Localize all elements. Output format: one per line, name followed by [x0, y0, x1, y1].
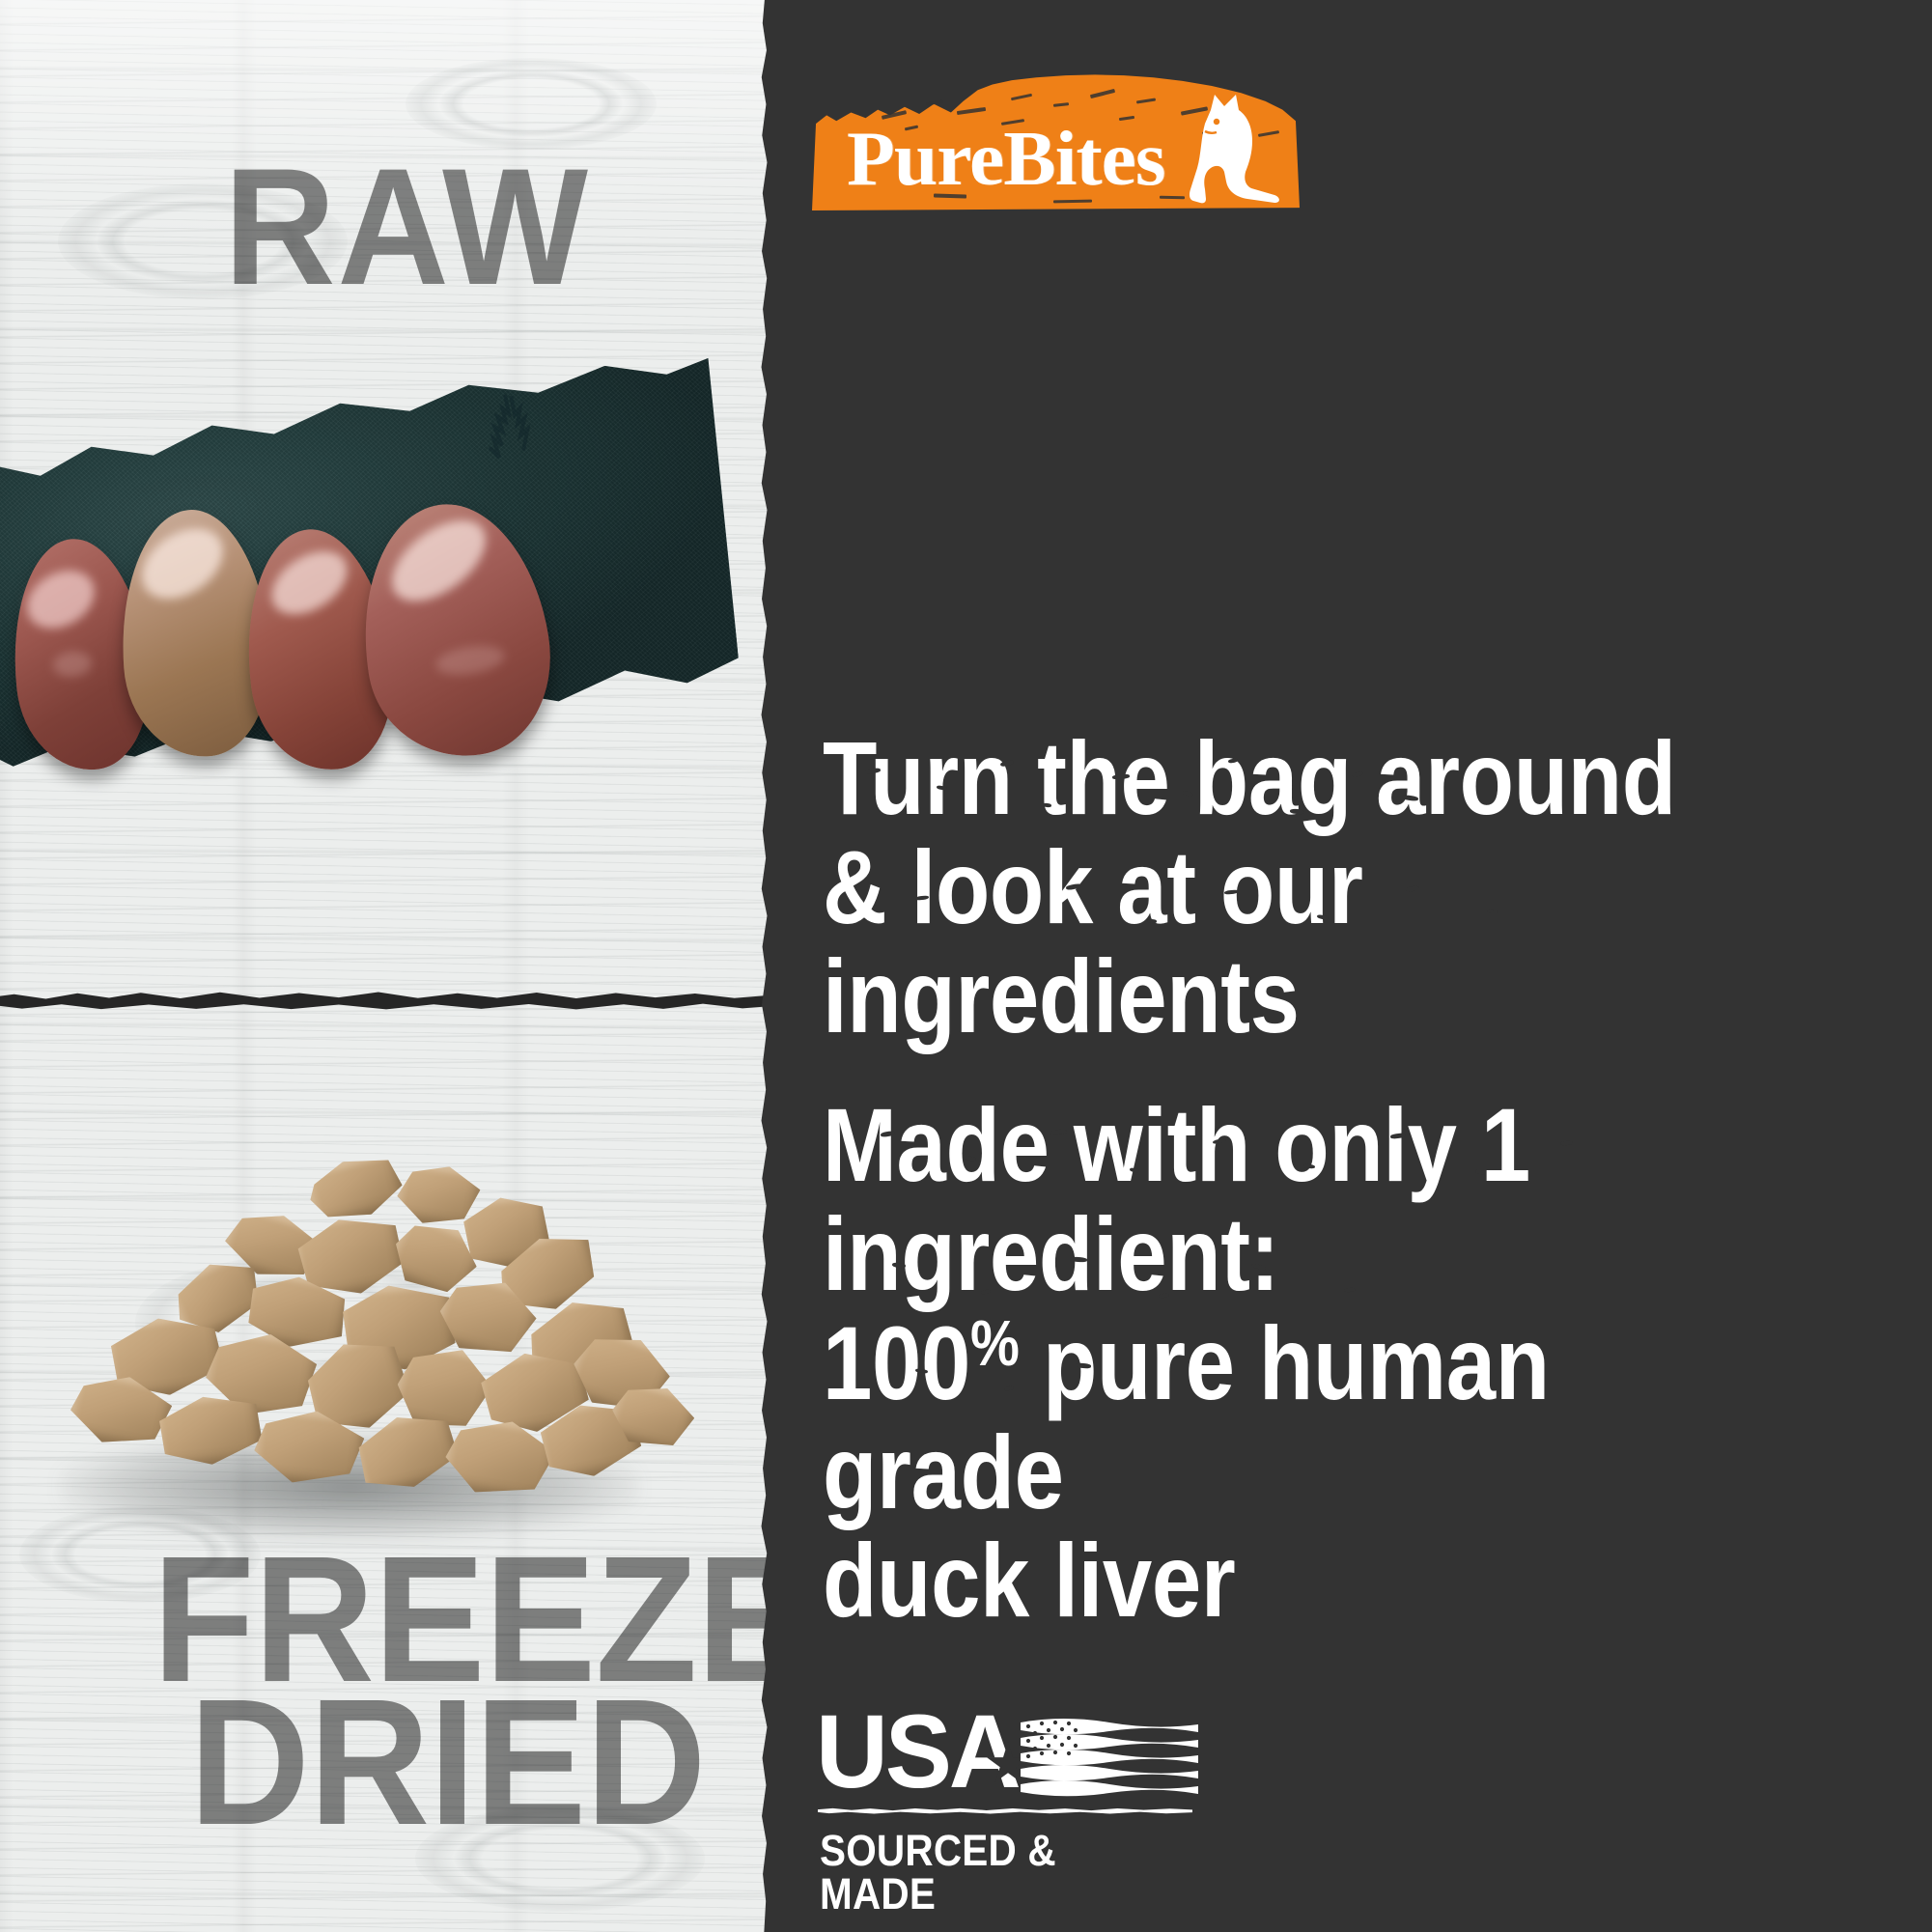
- left-panel: RAW: [0, 0, 768, 1932]
- raw-label: RAW: [224, 157, 590, 296]
- freeze-dried-chunk: [303, 1149, 407, 1227]
- headline-line-2-number: 100: [823, 1304, 970, 1421]
- dried-label: DRIED: [189, 1688, 706, 1838]
- slate-mineral-mark-icon: [472, 388, 547, 463]
- headline-made-with-one-ingredient: Made with only 1 ingredient: 100% pure h…: [823, 1091, 1771, 1636]
- percent-symbol: %: [970, 1307, 1019, 1380]
- usa-title: USA: [816, 1699, 1019, 1804]
- headline-turn-the-bag: Turn the bag around & look at our ingred…: [823, 724, 1771, 1051]
- logo-wordmark: PureBites: [847, 121, 1165, 198]
- usa-sourced-and-made-badge: USA SOURCED & MADE: [816, 1707, 1202, 1871]
- sitting-cat-icon: [1168, 89, 1282, 205]
- headline-line-3: duck liver: [823, 1522, 1235, 1638]
- usa-subtitle: SOURCED & MADE: [820, 1829, 1163, 1916]
- headline-line-1: Made with only 1 ingredient:: [823, 1086, 1530, 1312]
- freeze-dried-duck-liver-photo: [19, 1144, 734, 1559]
- purebites-logo[interactable]: PureBites: [812, 70, 1300, 210]
- usa-flag-icon: [1017, 1717, 1202, 1798]
- panel-divider: [0, 987, 768, 1012]
- raw-duck-liver-photo: [0, 386, 768, 869]
- product-marketing-poster: RAW: [0, 0, 1932, 1932]
